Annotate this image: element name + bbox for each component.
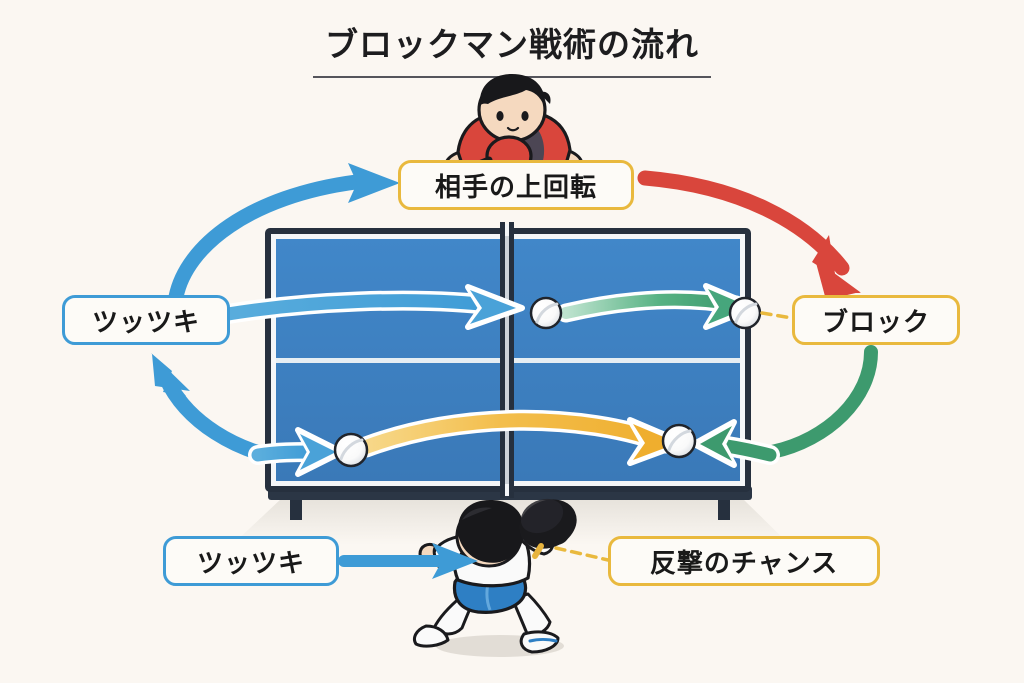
ball-right-bottom [663,425,695,457]
arrow-block-to-table [772,352,871,452]
net-post-right [509,222,514,498]
ball-left-bottom [335,434,367,466]
net-post-left [500,222,505,498]
label-tsuttsuki-left-text: ツッツキ [92,302,200,339]
dashed-ball-to-block [762,313,792,318]
label-counter-chance-text: 反撃のチャンス [650,543,838,580]
table-tennis-table [265,222,752,520]
label-block-right-text: ブロック [822,302,930,339]
ball-right-top [730,298,760,328]
label-tsuttsuki-left[interactable]: ツッツキ [62,295,230,345]
net-mesh [505,236,509,484]
dashed-racket-to-chance [556,548,608,560]
label-opponent-topspin-text: 相手の上回転 [435,167,597,204]
label-tsuttsuki-bottom[interactable]: ツッツキ [163,536,339,586]
diagram-canvas: ブロックマン戦術の流れ [0,0,1024,683]
label-opponent-topspin[interactable]: 相手の上回転 [398,160,634,210]
label-tsuttsuki-bottom-text: ツッツキ [197,543,305,580]
label-block-right[interactable]: ブロック [792,295,960,345]
ball-near-net-top [531,298,561,328]
label-counter-chance[interactable]: 反撃のチャンス [608,536,880,586]
